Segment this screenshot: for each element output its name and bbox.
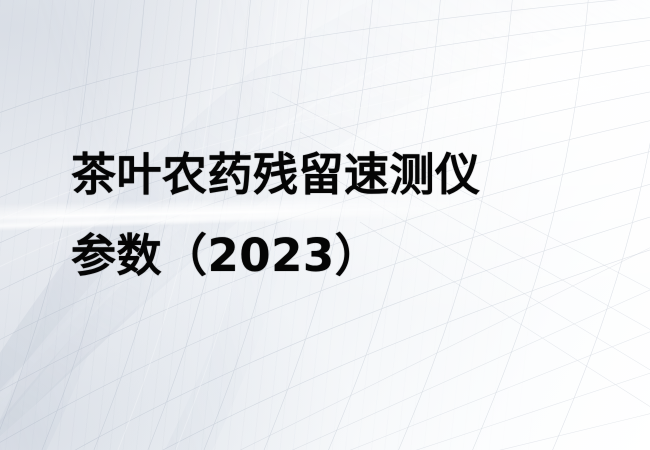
page-title: 茶叶农药残留速测仪 参数（2023） [71,134,591,296]
title-line-2: 参数（2023） [71,215,591,296]
title-line-1: 茶叶农药残留速测仪 [71,134,591,215]
title-banner: 茶叶农药残留速测仪 参数（2023） [0,0,650,450]
